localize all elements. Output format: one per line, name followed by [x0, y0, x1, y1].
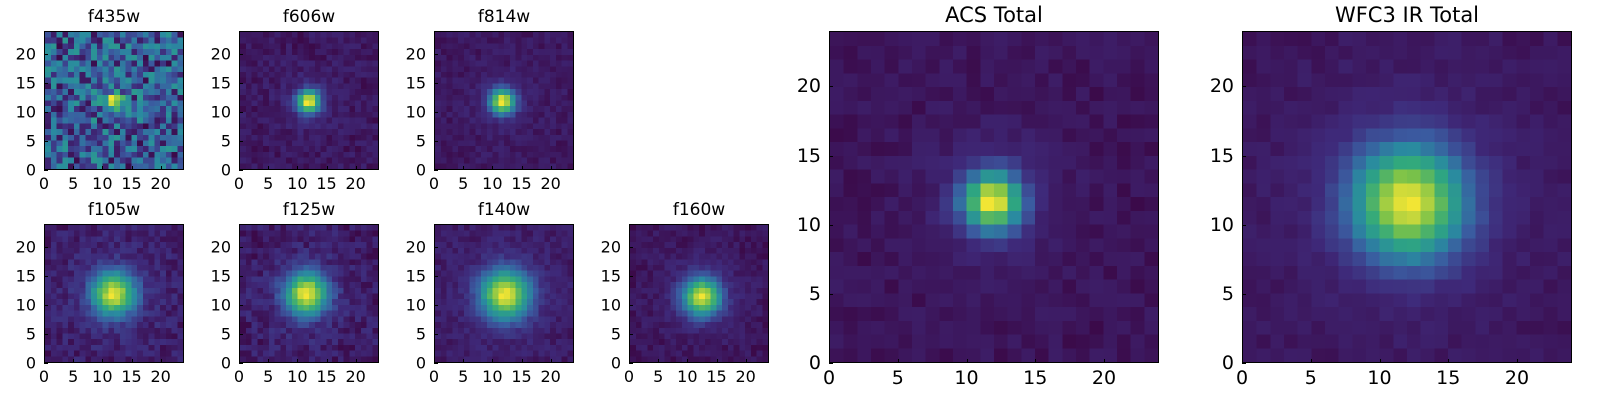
- y-tick-mark: [629, 334, 633, 335]
- x-tick-label: 20: [540, 367, 560, 386]
- heatmap-wfc3-ir-total: [1242, 31, 1572, 363]
- y-tick-mark: [1242, 156, 1246, 157]
- y-tick-mark: [629, 247, 633, 248]
- x-tick-label: 0: [429, 174, 439, 193]
- y-tick-label: 15: [1182, 145, 1234, 167]
- x-tick-label: 20: [540, 174, 560, 193]
- y-tick-mark: [44, 112, 48, 113]
- x-tick-label: 0: [823, 367, 835, 389]
- x-tick-label: 5: [458, 174, 468, 193]
- y-tick-label: 0: [0, 161, 36, 180]
- y-tick-label: 0: [374, 161, 426, 180]
- y-tick-mark: [434, 54, 438, 55]
- x-tick-label: 10: [92, 174, 112, 193]
- y-tick-label: 10: [179, 103, 231, 122]
- x-tick-label: 20: [345, 367, 365, 386]
- x-tick-label: 10: [954, 367, 978, 389]
- x-tick-mark: [297, 359, 298, 363]
- panel-wfc3-ir-total: WFC3 IR Total0510152005101520: [1182, 1, 1600, 403]
- y-tick-mark: [239, 112, 243, 113]
- heatmap-pixels: [830, 32, 1158, 362]
- heatmap-acs-total: [829, 31, 1159, 363]
- y-tick-mark: [44, 141, 48, 142]
- x-tick-label: 5: [263, 174, 273, 193]
- y-tick-label: 15: [769, 145, 821, 167]
- y-tick-mark: [434, 247, 438, 248]
- x-tick-label: 10: [482, 367, 502, 386]
- x-tick-mark: [327, 359, 328, 363]
- y-tick-mark: [44, 83, 48, 84]
- y-tick-mark: [829, 294, 833, 295]
- x-tick-mark: [898, 359, 899, 363]
- heatmap-pixels: [630, 225, 768, 362]
- y-tick-label: 0: [179, 354, 231, 373]
- heatmap-f140w: [434, 224, 574, 363]
- x-tick-label: 0: [39, 174, 49, 193]
- x-tick-label: 5: [68, 367, 78, 386]
- y-tick-mark: [239, 141, 243, 142]
- y-tick-mark: [434, 305, 438, 306]
- y-tick-mark: [434, 83, 438, 84]
- x-tick-mark: [1311, 359, 1312, 363]
- x-tick-label: 5: [892, 367, 904, 389]
- y-tick-mark: [829, 156, 833, 157]
- y-tick-label: 20: [1182, 75, 1234, 97]
- x-tick-mark: [522, 359, 523, 363]
- heatmap-f606w: [239, 31, 379, 170]
- x-tick-mark: [967, 359, 968, 363]
- y-tick-label: 15: [179, 267, 231, 286]
- x-tick-mark: [268, 359, 269, 363]
- heatmap-f160w: [629, 224, 769, 363]
- x-tick-mark: [102, 359, 103, 363]
- x-tick-label: 15: [121, 367, 141, 386]
- y-tick-label: 5: [179, 132, 231, 151]
- x-tick-label: 5: [653, 367, 663, 386]
- y-tick-label: 0: [569, 354, 621, 373]
- y-tick-mark: [44, 54, 48, 55]
- x-tick-label: 5: [263, 367, 273, 386]
- y-tick-label: 10: [769, 214, 821, 236]
- y-tick-label: 15: [0, 74, 36, 93]
- x-tick-label: 10: [287, 174, 307, 193]
- x-tick-label: 10: [482, 174, 502, 193]
- x-tick-label: 20: [345, 174, 365, 193]
- y-tick-mark: [434, 112, 438, 113]
- y-tick-mark: [239, 83, 243, 84]
- panel-title-wfc3-ir-total: WFC3 IR Total: [1182, 3, 1600, 27]
- y-tick-mark: [629, 305, 633, 306]
- y-tick-label: 20: [179, 238, 231, 257]
- y-tick-label: 15: [179, 74, 231, 93]
- y-tick-label: 10: [0, 296, 36, 315]
- x-tick-mark: [1104, 359, 1105, 363]
- x-tick-label: 0: [1236, 367, 1248, 389]
- y-tick-mark: [1242, 225, 1246, 226]
- heatmap-f435w: [44, 31, 184, 170]
- x-tick-mark: [1035, 359, 1036, 363]
- y-tick-label: 10: [1182, 214, 1234, 236]
- x-tick-label: 20: [1092, 367, 1116, 389]
- y-tick-label: 5: [0, 132, 36, 151]
- heatmap-pixels: [45, 225, 183, 362]
- y-tick-mark: [434, 170, 438, 171]
- panel-acs-total: ACS Total0510152005101520: [769, 1, 1219, 403]
- x-tick-label: 10: [1367, 367, 1391, 389]
- y-tick-label: 15: [0, 267, 36, 286]
- x-tick-label: 10: [677, 367, 697, 386]
- y-tick-label: 5: [0, 325, 36, 344]
- x-tick-mark: [522, 166, 523, 170]
- y-tick-label: 5: [769, 283, 821, 305]
- y-tick-label: 20: [374, 45, 426, 64]
- x-tick-mark: [463, 166, 464, 170]
- y-tick-mark: [829, 363, 833, 364]
- x-tick-mark: [73, 166, 74, 170]
- figure-canvas: f435w0510152005101520f606w05101520051015…: [0, 0, 1600, 400]
- x-tick-label: 15: [1436, 367, 1460, 389]
- panel-title-acs-total: ACS Total: [769, 3, 1219, 27]
- y-tick-mark: [239, 334, 243, 335]
- y-tick-label: 5: [179, 325, 231, 344]
- y-tick-mark: [829, 225, 833, 226]
- y-tick-label: 10: [374, 103, 426, 122]
- y-tick-mark: [434, 363, 438, 364]
- x-tick-label: 15: [316, 367, 336, 386]
- heatmap-pixels: [435, 32, 573, 169]
- y-tick-mark: [239, 363, 243, 364]
- y-tick-label: 10: [374, 296, 426, 315]
- x-tick-label: 5: [458, 367, 468, 386]
- x-tick-label: 10: [287, 367, 307, 386]
- y-tick-mark: [239, 276, 243, 277]
- y-tick-label: 10: [179, 296, 231, 315]
- heatmap-f814w: [434, 31, 574, 170]
- x-tick-label: 15: [511, 174, 531, 193]
- y-tick-label: 20: [0, 45, 36, 64]
- y-tick-label: 10: [569, 296, 621, 315]
- x-tick-mark: [463, 359, 464, 363]
- y-tick-label: 0: [769, 352, 821, 374]
- heatmap-f105w: [44, 224, 184, 363]
- x-tick-label: 0: [429, 367, 439, 386]
- y-tick-mark: [1242, 294, 1246, 295]
- x-tick-label: 15: [316, 174, 336, 193]
- y-tick-mark: [239, 247, 243, 248]
- y-tick-mark: [1242, 363, 1246, 364]
- x-tick-mark: [1380, 359, 1381, 363]
- x-tick-label: 15: [511, 367, 531, 386]
- y-tick-mark: [829, 86, 833, 87]
- x-tick-label: 15: [1023, 367, 1047, 389]
- x-tick-mark: [356, 166, 357, 170]
- y-tick-label: 20: [569, 238, 621, 257]
- y-tick-label: 20: [374, 238, 426, 257]
- x-tick-mark: [492, 359, 493, 363]
- x-tick-mark: [73, 359, 74, 363]
- x-tick-mark: [492, 166, 493, 170]
- x-tick-mark: [551, 166, 552, 170]
- y-tick-label: 20: [0, 238, 36, 257]
- x-tick-mark: [356, 359, 357, 363]
- heatmap-pixels: [1243, 32, 1571, 362]
- y-tick-label: 20: [179, 45, 231, 64]
- y-tick-mark: [434, 276, 438, 277]
- y-tick-label: 15: [569, 267, 621, 286]
- y-tick-mark: [434, 334, 438, 335]
- x-tick-label: 5: [68, 174, 78, 193]
- heatmap-pixels: [240, 225, 378, 362]
- y-tick-label: 5: [569, 325, 621, 344]
- y-tick-mark: [44, 363, 48, 364]
- y-tick-label: 5: [374, 132, 426, 151]
- y-tick-label: 20: [769, 75, 821, 97]
- x-tick-mark: [268, 166, 269, 170]
- x-tick-mark: [1517, 359, 1518, 363]
- y-tick-mark: [44, 334, 48, 335]
- x-tick-mark: [1448, 359, 1449, 363]
- x-tick-mark: [327, 166, 328, 170]
- y-tick-label: 0: [179, 161, 231, 180]
- x-tick-mark: [687, 359, 688, 363]
- x-tick-label: 20: [1505, 367, 1529, 389]
- y-tick-mark: [44, 276, 48, 277]
- heatmap-pixels: [240, 32, 378, 169]
- y-tick-label: 5: [374, 325, 426, 344]
- y-tick-label: 10: [0, 103, 36, 122]
- x-tick-label: 20: [150, 367, 170, 386]
- y-tick-mark: [239, 170, 243, 171]
- x-tick-label: 5: [1305, 367, 1317, 389]
- y-tick-mark: [1242, 86, 1246, 87]
- x-tick-label: 0: [234, 174, 244, 193]
- heatmap-f125w: [239, 224, 379, 363]
- x-tick-label: 15: [121, 174, 141, 193]
- x-tick-label: 0: [624, 367, 634, 386]
- x-tick-mark: [132, 166, 133, 170]
- x-tick-mark: [132, 359, 133, 363]
- y-tick-mark: [434, 141, 438, 142]
- x-tick-label: 0: [39, 367, 49, 386]
- x-tick-label: 15: [706, 367, 726, 386]
- x-tick-label: 20: [150, 174, 170, 193]
- x-tick-label: 0: [234, 367, 244, 386]
- y-tick-mark: [44, 170, 48, 171]
- x-tick-mark: [551, 359, 552, 363]
- x-tick-mark: [717, 359, 718, 363]
- y-tick-label: 5: [1182, 283, 1234, 305]
- y-tick-mark: [629, 363, 633, 364]
- heatmap-pixels: [45, 32, 183, 169]
- heatmap-pixels: [435, 225, 573, 362]
- y-tick-label: 0: [1182, 352, 1234, 374]
- y-tick-mark: [44, 247, 48, 248]
- y-tick-label: 15: [374, 74, 426, 93]
- y-tick-mark: [239, 305, 243, 306]
- y-tick-label: 15: [374, 267, 426, 286]
- y-tick-label: 0: [0, 354, 36, 373]
- x-tick-mark: [746, 359, 747, 363]
- x-tick-mark: [161, 166, 162, 170]
- x-tick-label: 20: [735, 367, 755, 386]
- x-tick-label: 10: [92, 367, 112, 386]
- x-tick-mark: [297, 166, 298, 170]
- y-tick-mark: [629, 276, 633, 277]
- x-tick-mark: [658, 359, 659, 363]
- panel-f814w: f814w0510152005101520: [374, 1, 634, 210]
- x-tick-mark: [161, 359, 162, 363]
- y-tick-mark: [44, 305, 48, 306]
- y-tick-mark: [239, 54, 243, 55]
- x-tick-mark: [102, 166, 103, 170]
- panel-title-f814w: f814w: [374, 7, 634, 27]
- y-tick-label: 0: [374, 354, 426, 373]
